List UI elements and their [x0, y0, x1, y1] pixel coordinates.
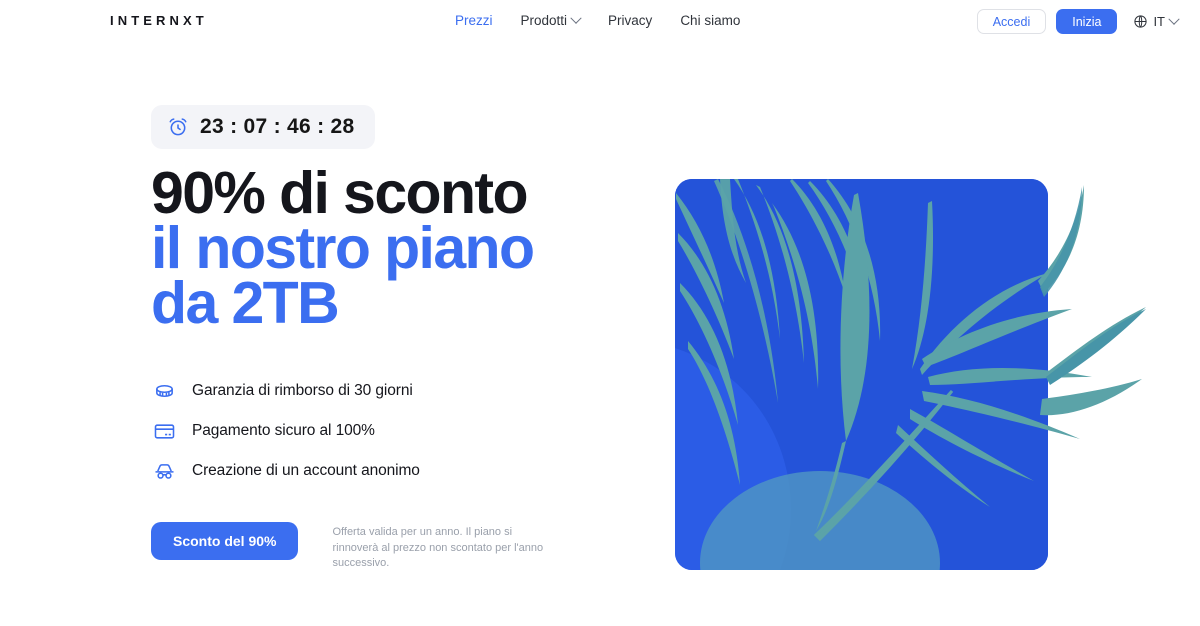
tropical-leaves-illustration: [660, 163, 1150, 583]
feature-label: Pagamento sicuro al 100%: [192, 422, 375, 440]
incognito-icon: [151, 458, 177, 484]
main-navigation: Prezzi Prodotti Privacy Chi siamo: [455, 11, 740, 31]
hero-section: 23 : 07 : 46 : 28 90% di sconto il nostr…: [0, 43, 1200, 626]
globe-icon: [1133, 14, 1148, 29]
headline-line-2: il nostro piano: [151, 221, 631, 276]
page-title: 90% di sconto il nostro piano da 2TB: [151, 166, 631, 331]
list-item: Pagamento sicuro al 100%: [151, 418, 631, 444]
nav-item-prezzi[interactable]: Prezzi: [455, 11, 493, 31]
nav-item-prodotti[interactable]: Prodotti: [521, 11, 581, 31]
login-button[interactable]: Accedi: [977, 9, 1047, 34]
nav-item-label: Privacy: [608, 11, 652, 31]
countdown-value: 23 : 07 : 46 : 28: [200, 115, 355, 139]
hero-content: 23 : 07 : 46 : 28 90% di sconto il nostr…: [151, 105, 631, 572]
list-item: Creazione di un account anonimo: [151, 458, 631, 484]
list-item: Garanzia di rimborso di 30 giorni: [151, 378, 631, 404]
signup-button[interactable]: Inizia: [1056, 9, 1117, 34]
headline-line-3: da 2TB: [151, 276, 631, 331]
feature-list: Garanzia di rimborso di 30 giorni Pagame…: [151, 378, 631, 484]
nav-item-chi-siamo[interactable]: Chi siamo: [680, 11, 740, 31]
chevron-down-icon: [1168, 13, 1179, 24]
countdown-timer: 23 : 07 : 46 : 28: [151, 105, 375, 149]
headline-line-1: 90% di sconto: [151, 166, 631, 221]
nav-item-label: Prodotti: [521, 11, 568, 31]
feature-label: Garanzia di rimborso di 30 giorni: [192, 382, 413, 400]
header-actions: Accedi Inizia IT: [977, 9, 1178, 34]
logo[interactable]: INTERNXT: [110, 13, 208, 28]
language-label: IT: [1153, 14, 1165, 29]
nav-item-label: Prezzi: [455, 11, 493, 31]
cta-row: Sconto del 90% Offerta valida per un ann…: [151, 522, 631, 572]
language-selector[interactable]: IT: [1133, 14, 1178, 29]
coin-icon: [151, 378, 177, 404]
site-header: INTERNXT Prezzi Prodotti Privacy Chi sia…: [0, 0, 1200, 43]
nav-item-privacy[interactable]: Privacy: [608, 11, 652, 31]
alarm-clock-icon: [167, 116, 189, 138]
credit-card-icon: [151, 418, 177, 444]
offer-disclaimer: Offerta valida per un anno. Il piano si …: [332, 522, 554, 572]
feature-label: Creazione di un account anonimo: [192, 462, 420, 480]
chevron-down-icon: [570, 13, 581, 24]
nav-item-label: Chi siamo: [680, 11, 740, 31]
discount-cta-button[interactable]: Sconto del 90%: [151, 522, 298, 560]
